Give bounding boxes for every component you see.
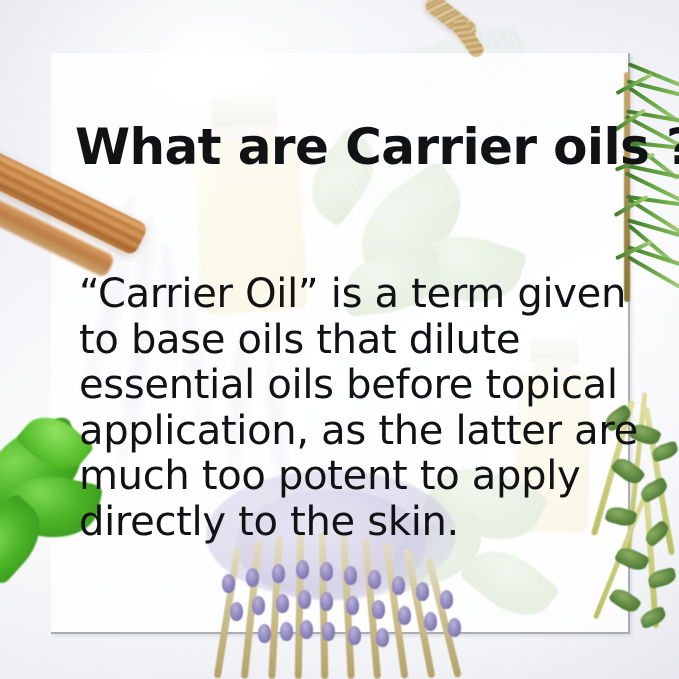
body-line: essential oils before topical	[79, 363, 619, 409]
card-body: “Carrier Oil” is a term given to base oi…	[79, 272, 619, 545]
card-title: What are Carrier oils ?	[75, 122, 679, 172]
card-text-layer: What are Carrier oils ? “Carrier Oil” is…	[51, 53, 630, 634]
body-line: much too potent to apply	[79, 454, 619, 500]
body-line: to base oils that dilute	[79, 318, 619, 364]
graphic-canvas: What are Carrier oils ? “Carrier Oil” is…	[0, 0, 679, 679]
body-line: application, as the latter are	[79, 409, 619, 455]
body-line: “Carrier Oil” is a term given	[79, 272, 619, 318]
body-line: directly to the skin.	[79, 500, 619, 546]
